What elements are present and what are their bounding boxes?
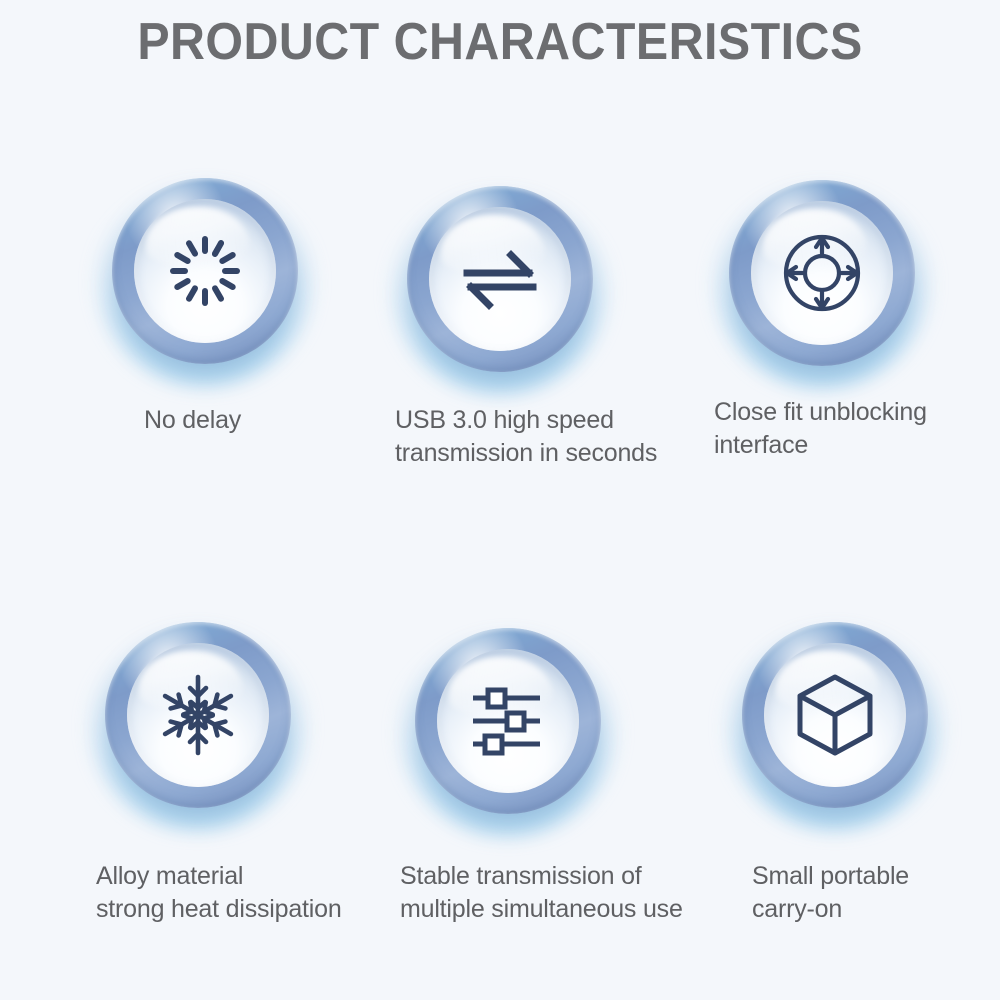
feature-badge-stable-transmission-multiple-use[interactable]: [415, 628, 601, 814]
feature-caption-small-portable-carry-on: Small portable carry-on: [752, 860, 1000, 925]
transfer-arrows-icon: [407, 186, 593, 372]
feature-badge-close-fit-unblocking-interface[interactable]: [729, 180, 915, 366]
feature-grid: No delay USB 3.0: [0, 0, 1000, 1000]
feature-close-fit-unblocking-interface: Close fit unblocking interface: [729, 180, 1000, 510]
feature-caption-usb-3-high-speed: USB 3.0 high speed transmission in secon…: [395, 404, 735, 469]
feature-alloy-material-heat-dissipation: Alloy material strong heat dissipation: [105, 622, 445, 952]
snowflake-icon: [105, 622, 291, 808]
four-way-expand-icon: [729, 180, 915, 366]
loading-spinner-icon: [112, 178, 298, 364]
feature-badge-usb-3-high-speed[interactable]: [407, 186, 593, 372]
feature-badge-small-portable-carry-on[interactable]: [742, 622, 928, 808]
sliders-icon: [415, 628, 601, 814]
feature-caption-close-fit-unblocking-interface: Close fit unblocking interface: [714, 396, 1000, 461]
feature-stable-transmission-multiple-use: Stable transmission of multiple simultan…: [415, 628, 765, 958]
feature-caption-alloy-material-heat-dissipation: Alloy material strong heat dissipation: [96, 860, 436, 925]
feature-badge-alloy-material-heat-dissipation[interactable]: [105, 622, 291, 808]
feature-usb-3-high-speed: USB 3.0 high speed transmission in secon…: [407, 186, 757, 516]
feature-no-delay: No delay: [112, 178, 442, 508]
cube-box-icon: [742, 622, 928, 808]
feature-badge-no-delay[interactable]: [112, 178, 298, 364]
feature-small-portable-carry-on: Small portable carry-on: [742, 622, 1000, 952]
feature-caption-stable-transmission-multiple-use: Stable transmission of multiple simultan…: [400, 860, 750, 925]
